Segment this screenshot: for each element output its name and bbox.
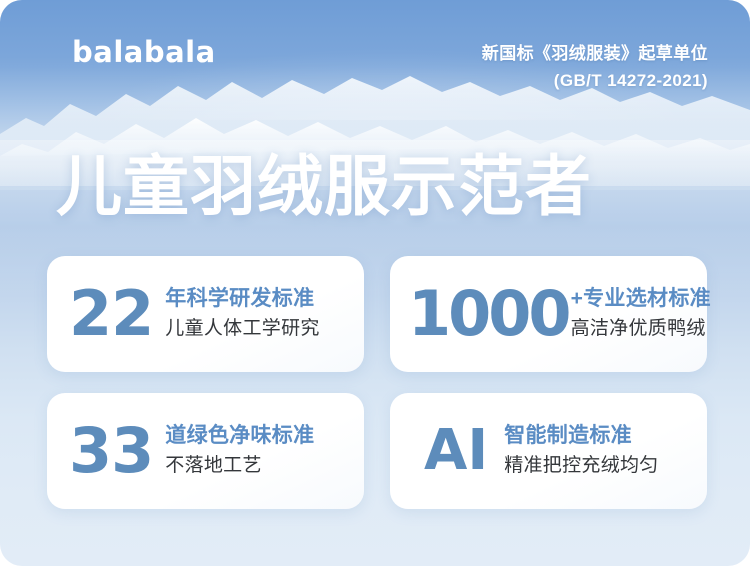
certification-line-1: 新国标《羽绒服装》起草单位 — [482, 40, 708, 67]
metric-label: 道绿色净味标准 — [165, 423, 314, 449]
metric-value: 22 — [69, 283, 153, 345]
feature-card: 33 道绿色净味标准 不落地工艺 — [47, 393, 364, 509]
metric-description: 儿童人体工学研究 — [165, 316, 319, 342]
certification-line-2: (GB/T 14272-2021) — [482, 67, 708, 94]
metric-description: 高洁净优质鸭绒 — [571, 316, 711, 342]
promo-poster: balabala 新国标《羽绒服装》起草单位 (GB/T 14272-2021)… — [0, 0, 750, 568]
feature-card-grid: 22 年科学研发标准 儿童人体工学研究 1000 +专业选材标准 高洁净优质鸭绒… — [47, 256, 707, 509]
brand-logo: balabala — [72, 38, 216, 67]
feature-card: AI 智能制造标准 精准把控充绒均匀 — [390, 393, 707, 509]
metric-description: 不落地工艺 — [165, 453, 314, 479]
metric-description: 精准把控充绒均匀 — [504, 453, 658, 479]
metric-value: 1000 — [408, 283, 569, 345]
feature-card: 1000 +专业选材标准 高洁净优质鸭绒 — [390, 256, 707, 372]
metric-value: 33 — [69, 420, 153, 482]
page-title: 儿童羽绒服示范者 — [56, 152, 592, 222]
metric-label: 年科学研发标准 — [165, 286, 319, 312]
metric-label: +专业选材标准 — [571, 286, 711, 312]
certification-note: 新国标《羽绒服装》起草单位 (GB/T 14272-2021) — [482, 40, 708, 94]
metric-label: 智能制造标准 — [504, 423, 658, 449]
feature-card: 22 年科学研发标准 儿童人体工学研究 — [47, 256, 364, 372]
metric-value: AI — [424, 423, 488, 479]
